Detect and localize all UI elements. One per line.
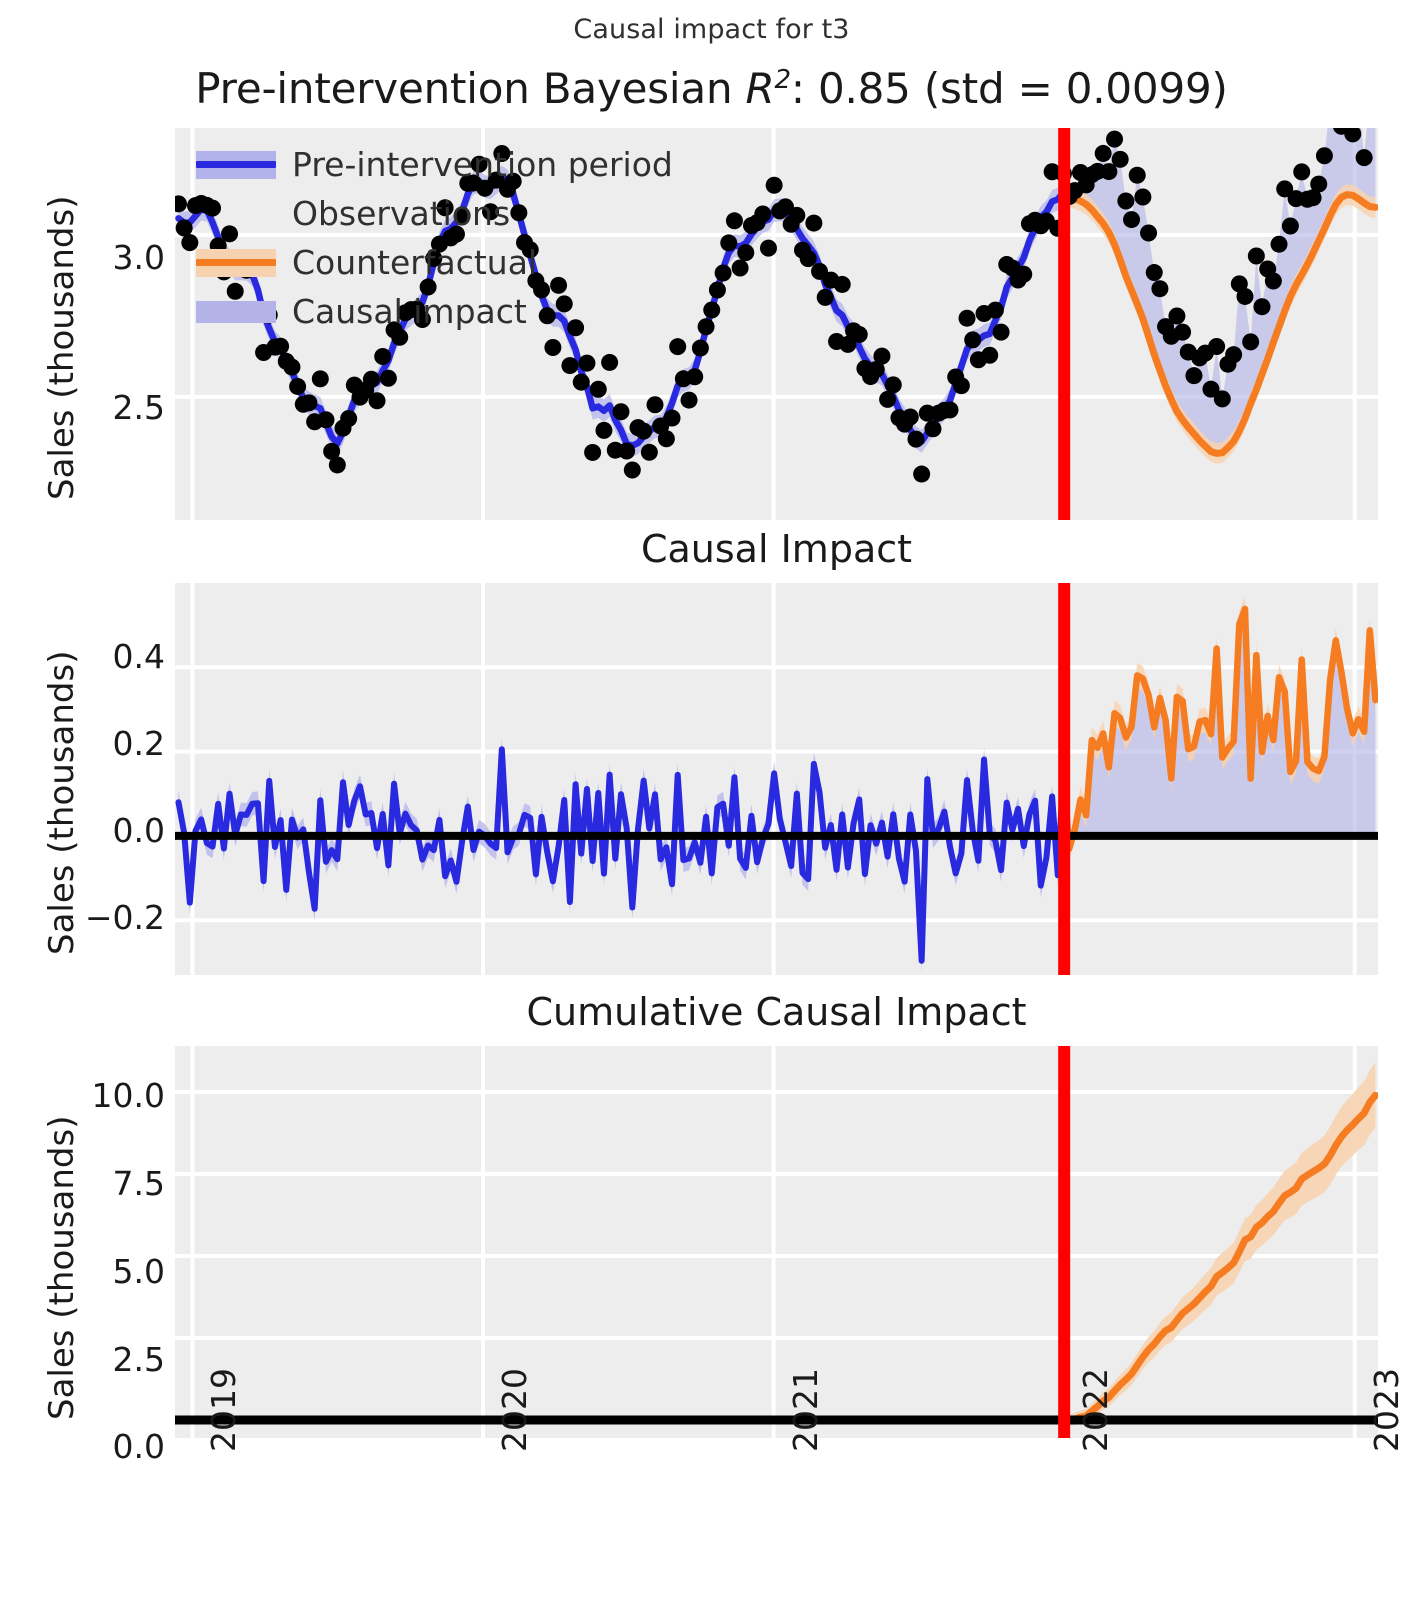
legend-item-counterfactual[interactable]: Counterfactual [196, 238, 673, 287]
figure-suptitle: Causal impact for t3 [0, 14, 1423, 45]
legend-label: Observations [292, 194, 510, 233]
panel1-ytick-0: 3.0 [70, 238, 165, 277]
panel3-ytick-4: 0.0 [32, 1427, 165, 1466]
legend-marker-line-band [196, 246, 276, 280]
title-suffix: : 0.85 (std = 0.0099) [791, 64, 1228, 113]
x-tick-2022: 2022 [1076, 1368, 1115, 1452]
legend-label: Counterfactual [292, 243, 537, 282]
legend-marker-band [196, 295, 276, 329]
panel3-title: Cumulative Causal Impact [175, 990, 1378, 1034]
panel2-ytick-2: 0.0 [70, 811, 165, 850]
legend-label: Pre-intervention period [292, 145, 673, 184]
figure-root: Causal impact for t3 Pre-intervention Ba… [0, 0, 1423, 1623]
legend-marker-points [196, 197, 276, 231]
title-exponent: 2 [775, 65, 791, 95]
panel1-ytick-1: 2.5 [70, 388, 165, 427]
legend: Pre-intervention period Observations Cou… [196, 140, 673, 336]
panel3-ytick-3: 2.5 [32, 1340, 165, 1379]
panel3-ytick-2: 5.0 [32, 1252, 165, 1291]
x-tick-2019: 2019 [204, 1368, 243, 1452]
x-tick-2023: 2023 [1367, 1368, 1406, 1452]
title-symbol: R [746, 64, 775, 113]
x-tick-2020: 2020 [495, 1368, 534, 1452]
panel3-ytick-0: 10.0 [32, 1076, 165, 1115]
panel3-ytick-1: 7.5 [32, 1164, 165, 1203]
legend-item-causal-impact[interactable]: Causal impact [196, 287, 673, 336]
legend-label: Causal impact [292, 292, 527, 331]
legend-marker-line-band [196, 148, 276, 182]
panel2-title: Causal Impact [175, 527, 1378, 571]
x-tick-2021: 2021 [786, 1368, 825, 1452]
panel2-ytick-3: −0.2 [46, 898, 165, 937]
legend-item-pre-intervention-period[interactable]: Pre-intervention period [196, 140, 673, 189]
panel-cumulative-causal-impact [175, 1046, 1378, 1438]
panel-causal-impact [175, 583, 1378, 975]
title-prefix: Pre-intervention Bayesian [195, 64, 745, 113]
panel2-ytick-0: 0.4 [70, 637, 165, 676]
panel2-ytick-1: 0.2 [70, 724, 165, 763]
legend-item-observations[interactable]: Observations [196, 189, 673, 238]
figure-title: Pre-intervention Bayesian R2: 0.85 (std … [0, 64, 1423, 113]
